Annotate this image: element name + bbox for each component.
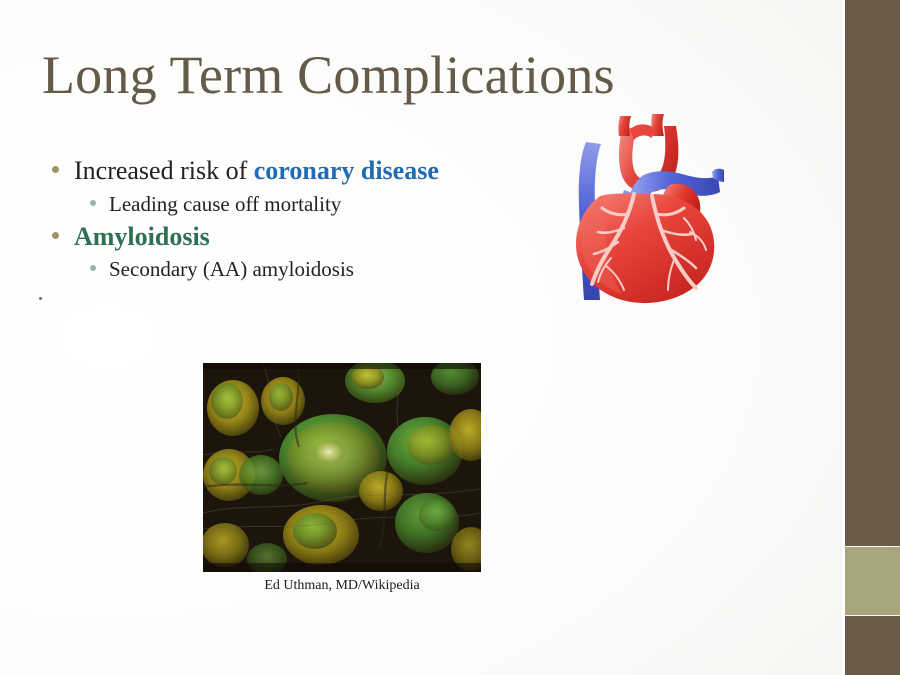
list-item: Amyloidosis: [52, 221, 572, 254]
slide-canvas: Long Term Complications Increased risk o…: [0, 0, 900, 675]
aortic-branch-right: [651, 114, 664, 136]
page-title: Long Term Complications: [42, 47, 615, 104]
aortic-branch-left: [618, 116, 631, 136]
sidebar-band-bottom: [845, 616, 900, 675]
bullet-text: Amyloidosis: [74, 221, 210, 254]
stray-mark: [39, 297, 42, 300]
anatomical-heart-illustration: [556, 110, 724, 306]
congo-red-amyloid-micrograph: [203, 363, 481, 572]
bullet-dot-icon: [52, 166, 59, 173]
list-item: Leading cause off mortality: [52, 191, 572, 217]
list-item: Secondary (AA) amyloidosis: [52, 256, 572, 282]
image-caption: Ed Uthman, MD/Wikipedia: [203, 578, 481, 594]
bullet-text-highlight: coronary disease: [254, 156, 439, 185]
bullet-dot-icon: [90, 200, 96, 206]
bullet-text: Leading cause off mortality: [109, 191, 341, 217]
bullet-text: Increased risk of coronary disease: [74, 155, 439, 188]
micrograph-figure: [203, 363, 481, 572]
bullet-text: Secondary (AA) amyloidosis: [109, 256, 354, 282]
aortic-branch-bridge: [630, 124, 654, 140]
bullet-dot-icon: [90, 265, 96, 271]
bullet-text-highlight: Amyloidosis: [74, 222, 210, 251]
bullet-list: Increased risk of coronary disease Leadi…: [52, 155, 572, 287]
sidebar-band-accent: [845, 547, 900, 615]
sidebar-band-top: [845, 0, 900, 546]
bullet-dot-icon: [52, 232, 59, 239]
list-item: Increased risk of coronary disease: [52, 155, 572, 188]
bullet-text-lead: Increased risk of: [74, 156, 254, 185]
